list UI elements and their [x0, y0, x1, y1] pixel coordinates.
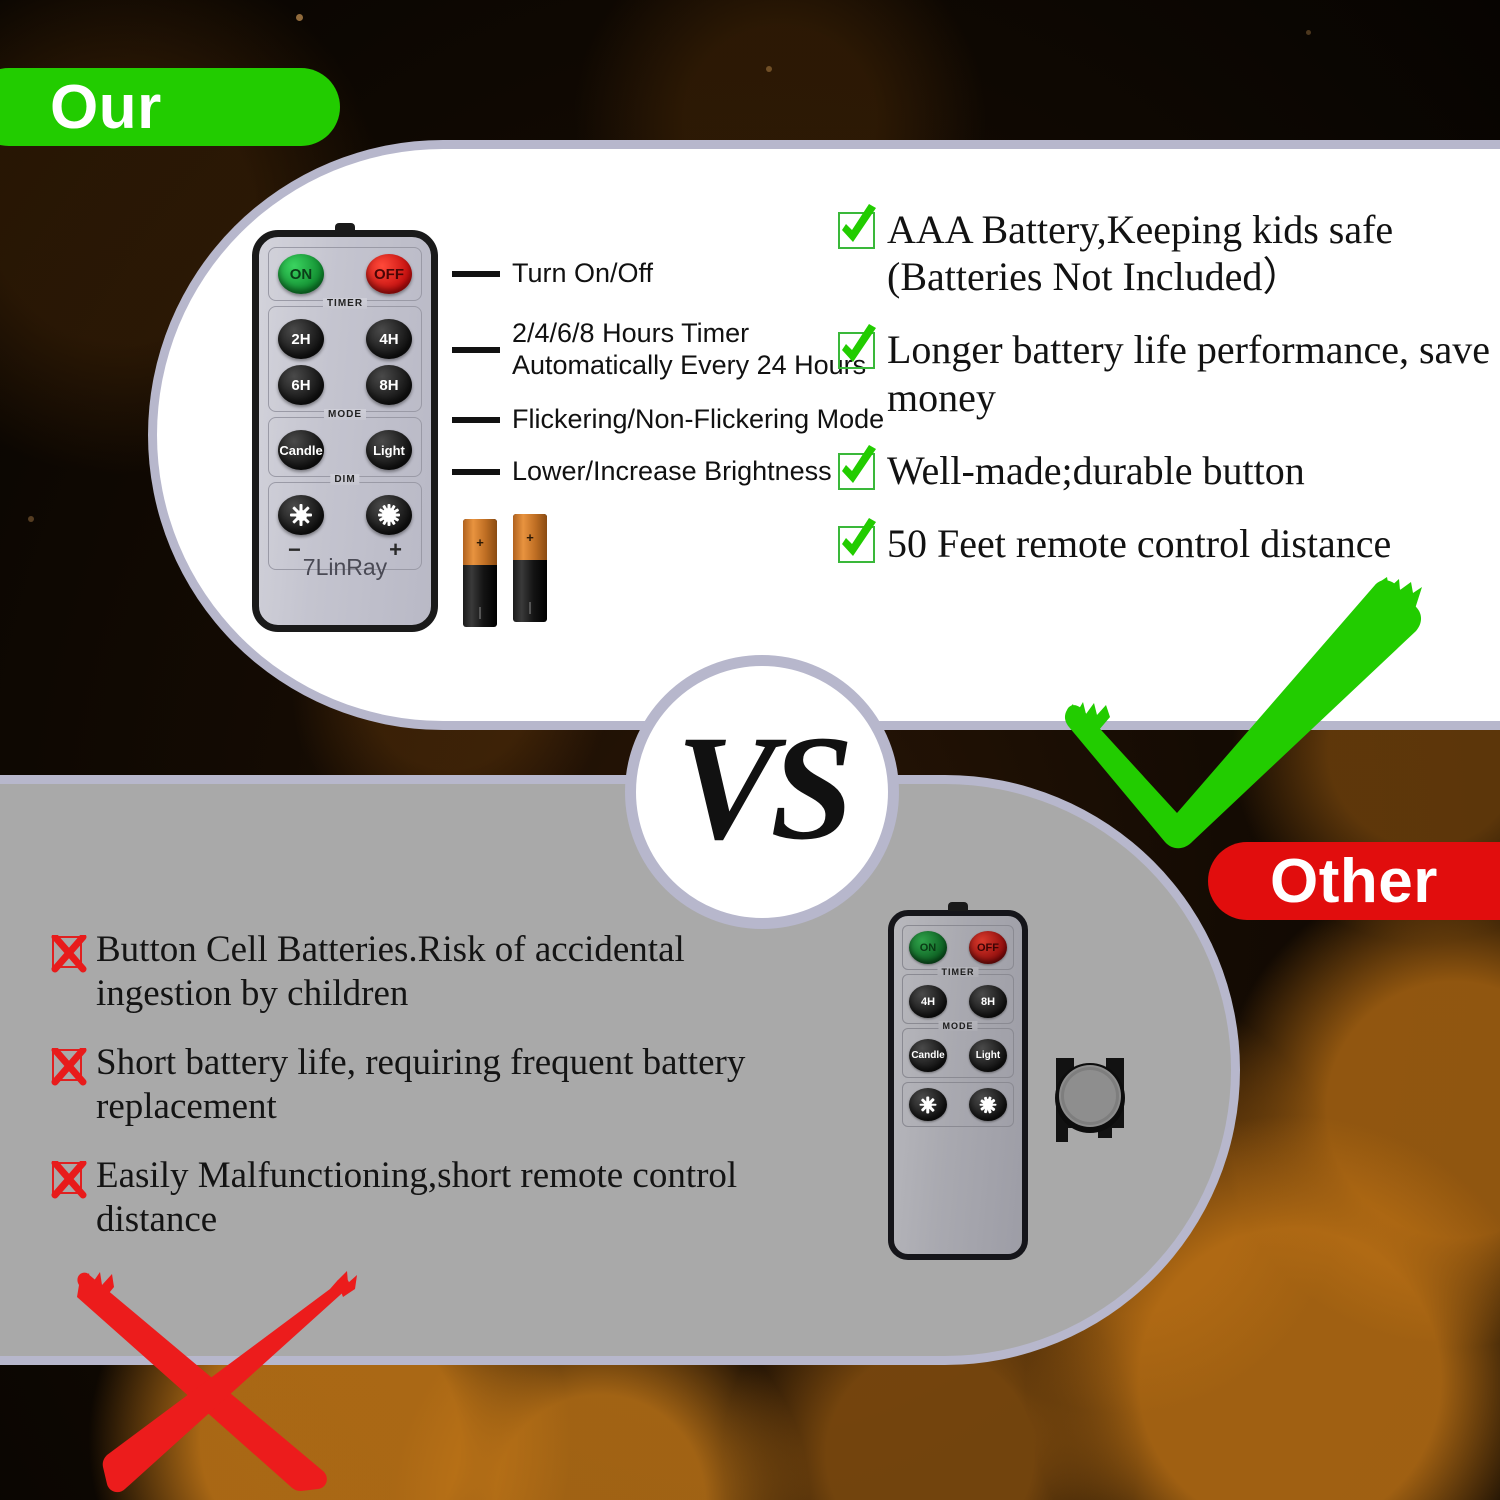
feature-item: AAA Battery,Keeping kids safe (Batteries… [838, 206, 1498, 300]
ir-emitter-icon [335, 223, 355, 232]
mode-group-label: MODE [324, 409, 366, 420]
callout-line [452, 271, 500, 277]
check-icon [838, 526, 875, 563]
battery-plus-label: + [513, 530, 547, 545]
callout-line [452, 347, 500, 353]
feature-item: Well-made;durable button [838, 447, 1498, 494]
brand-label: 7LinRay [259, 554, 431, 581]
dim-button-group [902, 1082, 1014, 1127]
timer-button-group: TIMER 2H 4H 6H 8H [268, 306, 422, 412]
feature-text: Well-made;durable button [887, 447, 1305, 494]
timer-2h-button[interactable]: 2H [278, 319, 324, 359]
battery-plus-label: + [463, 535, 497, 550]
mode-candle-button[interactable]: Candle [909, 1039, 947, 1072]
brightness-high-button[interactable] [366, 495, 412, 535]
timer-group-label: TIMER [323, 298, 367, 309]
brightness-low-icon [920, 1096, 937, 1113]
brightness-high-button[interactable] [969, 1088, 1007, 1121]
mode-light-button[interactable]: Light [366, 430, 412, 470]
other-remote-control: ON OFF TIMER 4H 8H MODE Candle Light [888, 910, 1028, 1260]
timer-8h-button[interactable]: 8H [366, 365, 412, 405]
brush-cross-mark [55, 1245, 365, 1500]
drawback-item: Easily Malfunctioning,short remote contr… [52, 1154, 812, 1243]
drawback-text: Easily Malfunctioning,short remote contr… [96, 1154, 812, 1243]
battery-mark [479, 607, 481, 619]
timer-button-group: TIMER 4H 8H [902, 974, 1014, 1024]
on-button[interactable]: ON [909, 931, 947, 964]
mode-button-group: MODE Candle Light [268, 417, 422, 477]
timer-4h-button[interactable]: 4H [366, 319, 412, 359]
cross-icon [52, 1162, 82, 1194]
brightness-high-icon [378, 504, 400, 526]
drawback-item: Button Cell Batteries.Risk of accidental… [52, 928, 812, 1017]
feature-list: AAA Battery,Keeping kids safe (Batteries… [838, 206, 1498, 593]
drawback-text: Short battery life, requiring frequent b… [96, 1041, 812, 1130]
mode-group-label: MODE [939, 1021, 978, 1031]
power-button-group: ON OFF [268, 247, 422, 301]
our-remote-control: ON OFF TIMER 2H 4H 6H 8H MODE Candle Lig… [252, 230, 438, 632]
callout-text: Lower/Increase Brightness [512, 456, 832, 488]
timer-8h-button[interactable]: 8H [969, 985, 1007, 1018]
off-button[interactable]: OFF [366, 254, 412, 294]
drawback-item: Short battery life, requiring frequent b… [52, 1041, 812, 1130]
feature-text: AAA Battery,Keeping kids safe (Batteries… [887, 206, 1498, 300]
brush-check-mark [1055, 575, 1425, 855]
power-button-group: ON OFF [902, 925, 1014, 970]
feature-item: 50 Feet remote control distance [838, 520, 1498, 567]
infographic-canvas: ON OFF TIMER 2H 4H 6H 8H MODE Candle Lig… [0, 0, 1500, 1500]
drawback-text: Button Cell Batteries.Risk of accidental… [96, 928, 812, 1017]
drawback-list: Button Cell Batteries.Risk of accidental… [52, 928, 812, 1266]
vs-label: VS [676, 713, 847, 863]
callout-text: 2/4/6/8 Hours Timer Automatically Every … [512, 318, 866, 382]
background-speck [28, 516, 34, 522]
timer-6h-button[interactable]: 6H [278, 365, 324, 405]
check-icon [838, 453, 875, 490]
timer-4h-button[interactable]: 4H [909, 985, 947, 1018]
vs-badge: VS [625, 655, 899, 929]
timer-group-label: TIMER [938, 967, 979, 977]
feature-text: 50 Feet remote control distance [887, 520, 1391, 567]
brightness-high-icon [980, 1096, 997, 1113]
brightness-low-button[interactable] [278, 495, 324, 535]
callout-text: Flickering/Non-Flickering Mode [512, 404, 884, 436]
mode-light-button[interactable]: Light [969, 1039, 1007, 1072]
mode-candle-button[interactable]: Candle [278, 430, 324, 470]
ir-emitter-icon [948, 902, 968, 911]
brightness-low-icon [290, 504, 312, 526]
background-speck [296, 14, 303, 21]
check-icon [838, 332, 875, 369]
callout-line [452, 417, 500, 423]
callout-line [452, 469, 500, 475]
battery-mark [529, 602, 531, 614]
our-badge: Our [0, 68, 340, 146]
feature-item: Longer battery life performance, save mo… [838, 326, 1498, 420]
aaa-battery: + [513, 514, 547, 622]
callout-text: Turn On/Off [512, 258, 653, 290]
callout-dim: Lower/Increase Brightness [452, 456, 832, 488]
brightness-low-button[interactable] [909, 1088, 947, 1121]
callout-mode: Flickering/Non-Flickering Mode [452, 404, 884, 436]
cross-icon [52, 936, 82, 968]
callout-power: Turn On/Off [452, 258, 653, 290]
background-speck [766, 66, 772, 72]
callout-timer: 2/4/6/8 Hours Timer Automatically Every … [452, 318, 866, 382]
mode-button-group: MODE Candle Light [902, 1028, 1014, 1078]
coin-cell-battery [1042, 1040, 1138, 1158]
aaa-battery: + [463, 519, 497, 627]
feature-text: Longer battery life performance, save mo… [887, 326, 1498, 420]
dim-group-label: DIM [330, 474, 359, 485]
off-button[interactable]: OFF [969, 931, 1007, 964]
cross-icon [52, 1049, 82, 1081]
on-button[interactable]: ON [278, 254, 324, 294]
background-speck [1306, 30, 1311, 35]
check-icon [838, 212, 875, 249]
